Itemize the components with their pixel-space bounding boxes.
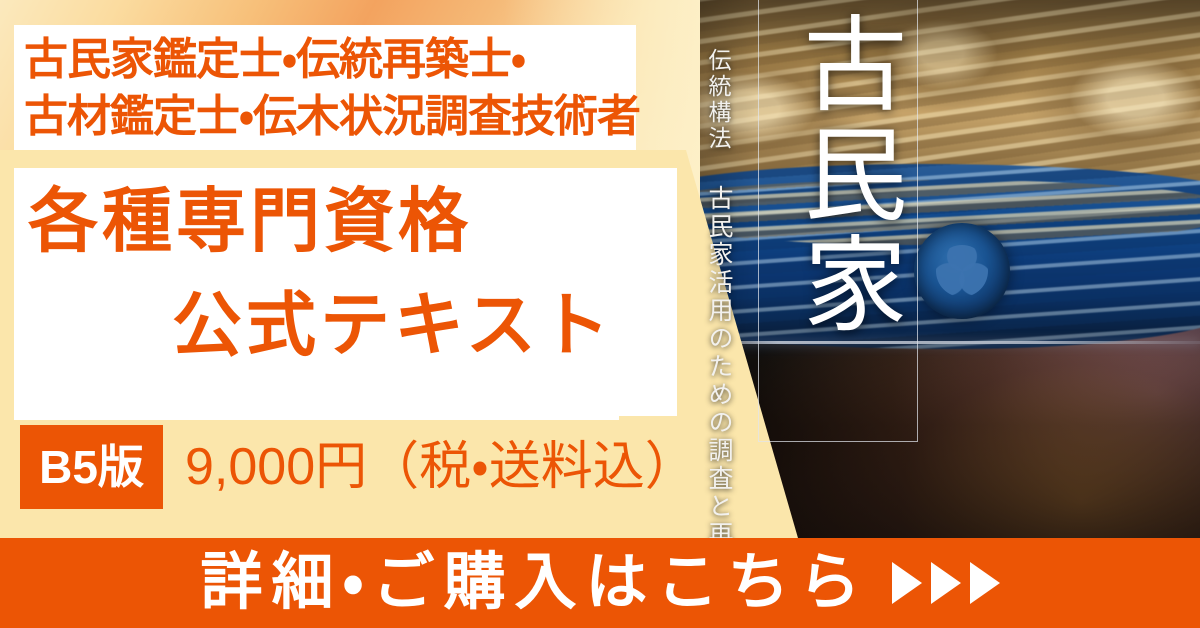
- cta-label: 詳細・ご購入はこちら: [200, 552, 869, 614]
- price-row: B5版 9,000円（税・送料込）: [20, 425, 697, 509]
- promo-banner: 古民家 伝統構法 古民家活用のための調査と再生の 古民家鑑定士・伝統再築士・ 古…: [0, 0, 1200, 628]
- triangle-right-icon: [931, 562, 961, 604]
- price-amount: 9,000円（税・送料込）: [185, 441, 697, 493]
- headline-line-1: 各種専門資格: [28, 186, 472, 256]
- qualifications-line-2: 古材鑑定士・伝木状況調査技術者: [24, 88, 636, 145]
- size-badge: B5版: [20, 425, 163, 509]
- book-cover-title: 古民家: [780, 10, 907, 340]
- cta-bar[interactable]: 詳細・ご購入はこちら: [0, 538, 1200, 628]
- triangle-right-icon: [970, 562, 1000, 604]
- triangle-right-icon: [892, 562, 922, 604]
- qualifications-line-1: 古民家鑑定士・伝統再築士・: [24, 31, 636, 88]
- headline-line-2: 公式テキスト: [172, 290, 614, 360]
- cta-arrows: [892, 562, 1000, 604]
- qualifications-panel: 古民家鑑定士・伝統再築士・ 古材鑑定士・伝木状況調査技術者: [14, 25, 636, 150]
- book-cover-subtitle-top: 伝統構法: [700, 48, 734, 152]
